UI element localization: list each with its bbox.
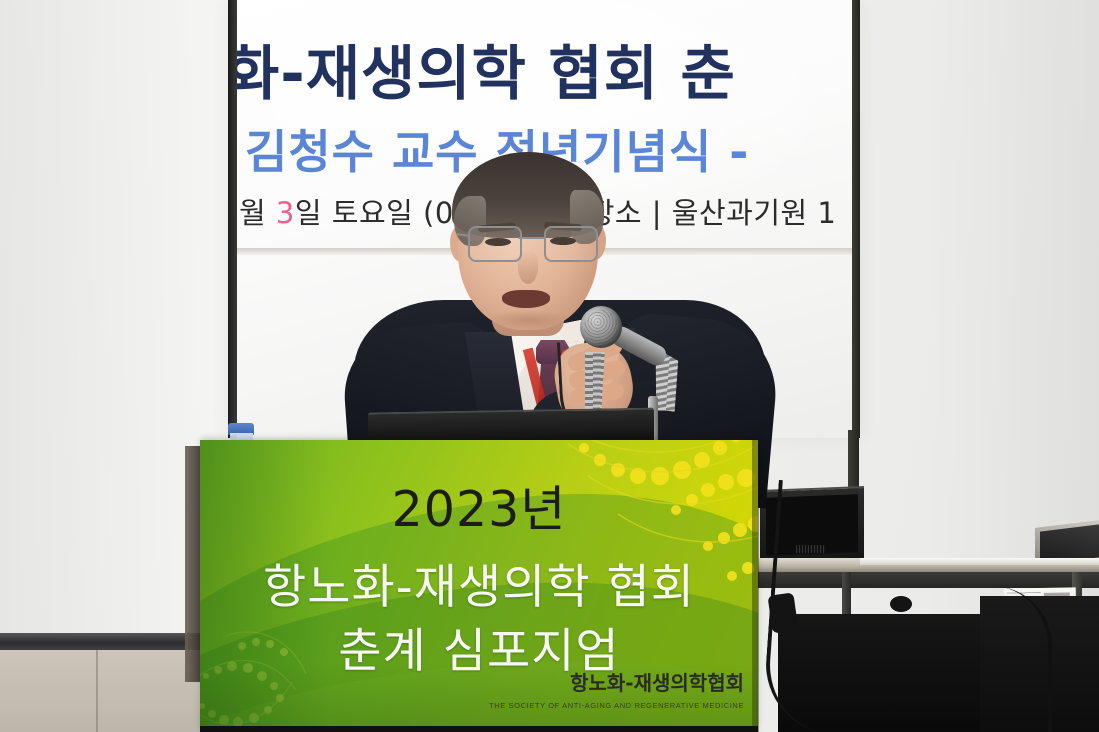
podium-sign: 2023년 항노화-재생의학 협회 춘계 심포지엄 항노화-재생의학협회 THE…: [200, 440, 758, 732]
cable-right: [930, 586, 1052, 732]
podium-right-edge: [752, 440, 759, 732]
glasses-lens-right: [544, 226, 598, 262]
association-logo-english: THE SOCIETY OF ANTI-AGING AND REGENERATI…: [489, 701, 744, 710]
association-logo-korean: 항노화-재생의학협회: [570, 667, 744, 696]
wainscot-seam: [96, 640, 98, 732]
photo-scene: 화-재생의학 협회 춘 김청수 교수 정년기념식 - 월 3일 토요일 (09:…: [0, 0, 1099, 732]
slide-title-line: 화-재생의학 협회 춘: [237, 26, 852, 111]
projection-screen-left-frame: [228, 0, 237, 438]
slide-info-highlight: 3: [276, 196, 295, 230]
podium-base: [200, 726, 758, 732]
glasses-bridge: [518, 237, 544, 239]
podium-title-line-1: 항노화-재생의학 협회: [200, 548, 758, 617]
cable-connector: [890, 596, 912, 612]
speaker-chin-shadow: [486, 310, 572, 330]
slide-info-part-a: 월: [239, 196, 276, 230]
projection-screen-right-frame: [852, 0, 860, 438]
speaker-mouth: [502, 290, 550, 308]
podium-side-panel: [185, 446, 201, 682]
speaker-nose: [518, 250, 538, 284]
av-table-gloss: [860, 558, 1099, 565]
glasses-lens-left: [468, 226, 522, 262]
wall-shadow-left: [0, 0, 200, 732]
microphone-mesh: [584, 310, 618, 344]
podium-year: 2023년: [200, 470, 758, 541]
